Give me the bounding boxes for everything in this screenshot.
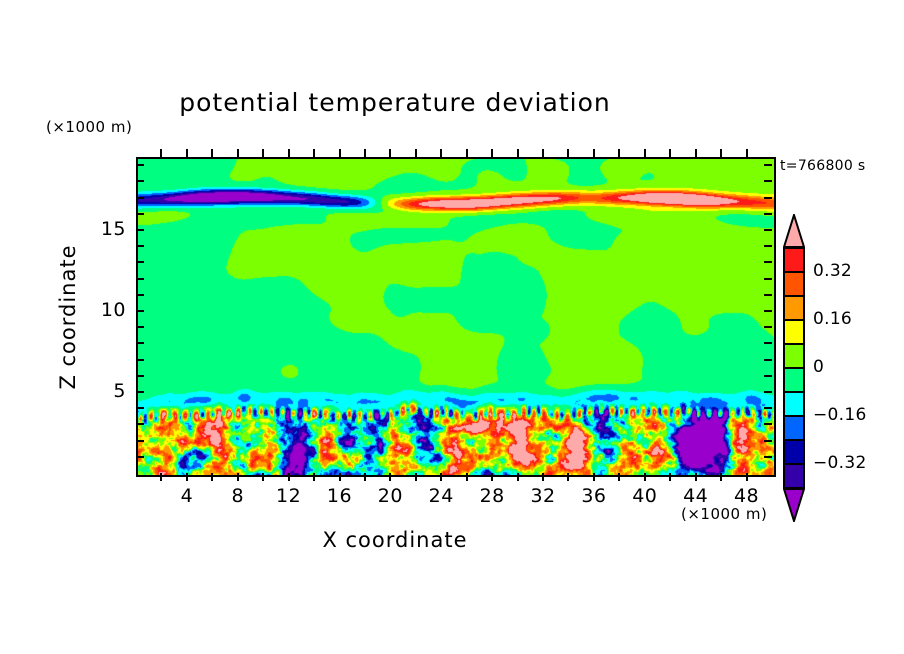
x-tick-top xyxy=(695,149,697,157)
colorbar-tick-label: 0 xyxy=(813,357,824,377)
colorbar: 0.320.160−0.16−0.32 xyxy=(783,248,805,488)
z-tick-left xyxy=(136,342,144,344)
z-tick-left xyxy=(136,310,144,312)
x-tick-top xyxy=(364,149,366,157)
colorbar-band xyxy=(783,416,805,440)
colorbar-band xyxy=(783,368,805,392)
x-tick-bottom xyxy=(160,473,162,481)
z-tick-left xyxy=(136,180,144,182)
colorbar-band xyxy=(783,440,805,464)
z-tick-left xyxy=(136,229,144,231)
x-tick-bottom xyxy=(491,473,493,481)
x-tick-label: 48 xyxy=(717,485,777,507)
colorbar-tick-label: 0.32 xyxy=(813,261,852,281)
x-tick-top xyxy=(313,149,315,157)
x-tick-top xyxy=(542,149,544,157)
z-tick-left xyxy=(136,456,144,458)
z-tick-left xyxy=(136,375,144,377)
x-tick-top xyxy=(669,149,671,157)
x-tick-top xyxy=(593,149,595,157)
colorbar-tick-label: 0.16 xyxy=(813,309,852,329)
z-tick-right xyxy=(764,180,772,182)
z-tick-left xyxy=(136,261,144,263)
z-tick-left xyxy=(136,359,144,361)
z-tick-left xyxy=(136,391,144,393)
x-tick-bottom xyxy=(466,473,468,481)
z-tick-left xyxy=(136,423,144,425)
x-tick-bottom xyxy=(542,473,544,481)
z-tick-left xyxy=(136,245,144,247)
x-tick-top xyxy=(288,149,290,157)
x-tick-bottom xyxy=(364,473,366,481)
page-title: potential temperature deviation xyxy=(0,88,790,117)
timestamp-annotation: t=766800 s xyxy=(780,158,865,174)
z-tick-right xyxy=(764,456,772,458)
z-tick-left xyxy=(136,213,144,215)
colorbar-band xyxy=(783,296,805,320)
x-tick-top xyxy=(211,149,213,157)
colorbar-cap-over xyxy=(783,214,805,248)
z-tick-right xyxy=(764,197,772,199)
z-tick-right xyxy=(764,407,772,409)
contour-field xyxy=(138,159,774,475)
colorbar-tick-label: −0.16 xyxy=(813,405,867,425)
x-tick-bottom xyxy=(288,473,290,481)
z-tick-right xyxy=(764,213,772,215)
x-axis-title: X coordinate xyxy=(0,528,790,552)
z-tick-right xyxy=(764,164,772,166)
x-tick-top xyxy=(618,149,620,157)
colorbar-band xyxy=(783,392,805,416)
x-tick-bottom xyxy=(593,473,595,481)
x-tick-top xyxy=(186,149,188,157)
x-tick-top xyxy=(466,149,468,157)
z-tick-right xyxy=(764,310,772,312)
x-tick-bottom xyxy=(746,473,748,481)
x-tick-bottom xyxy=(517,473,519,481)
x-tick-bottom xyxy=(618,473,620,481)
contour-plot-area xyxy=(136,157,776,477)
z-tick-right xyxy=(764,342,772,344)
colorbar-band xyxy=(783,248,805,272)
z-tick-left xyxy=(136,440,144,442)
z-tick-right xyxy=(764,278,772,280)
x-tick-bottom xyxy=(237,473,239,481)
colorbar-cap-under xyxy=(783,488,805,522)
z-tick-left xyxy=(136,326,144,328)
x-tick-bottom xyxy=(389,473,391,481)
colorbar-tick-label: −0.32 xyxy=(813,453,867,473)
x-tick-bottom xyxy=(211,473,213,481)
x-tick-top xyxy=(339,149,341,157)
figure-root: potential temperature deviation (×1000 m… xyxy=(0,0,904,654)
z-tick-label: 5 xyxy=(66,380,126,402)
z-tick-right xyxy=(764,391,772,393)
z-tick-left xyxy=(136,164,144,166)
x-tick-bottom xyxy=(415,473,417,481)
x-tick-bottom xyxy=(339,473,341,481)
z-tick-right xyxy=(764,375,772,377)
z-tick-label: 15 xyxy=(66,218,126,240)
z-tick-right xyxy=(764,261,772,263)
colorbar-band xyxy=(783,320,805,344)
x-tick-top xyxy=(415,149,417,157)
z-tick-right xyxy=(764,245,772,247)
z-tick-label: 10 xyxy=(66,299,126,321)
x-tick-top xyxy=(237,149,239,157)
colorbar-band xyxy=(783,272,805,296)
z-tick-right xyxy=(764,229,772,231)
x-tick-bottom xyxy=(440,473,442,481)
z-tick-left xyxy=(136,407,144,409)
z-tick-right xyxy=(764,423,772,425)
x-tick-bottom xyxy=(644,473,646,481)
z-tick-right xyxy=(764,294,772,296)
x-tick-top xyxy=(160,149,162,157)
x-tick-bottom xyxy=(567,473,569,481)
x-tick-top xyxy=(720,149,722,157)
z-tick-right xyxy=(764,359,772,361)
x-tick-top xyxy=(491,149,493,157)
x-tick-top xyxy=(389,149,391,157)
x-tick-top xyxy=(517,149,519,157)
z-tick-right xyxy=(764,326,772,328)
z-tick-left xyxy=(136,294,144,296)
z-tick-left xyxy=(136,278,144,280)
x-tick-top xyxy=(262,149,264,157)
x-tick-top xyxy=(440,149,442,157)
colorbar-band xyxy=(783,344,805,368)
x-tick-bottom xyxy=(313,473,315,481)
x-tick-bottom xyxy=(262,473,264,481)
z-axis-units-label: (×1000 m) xyxy=(46,118,132,136)
z-tick-left xyxy=(136,197,144,199)
z-tick-right xyxy=(764,440,772,442)
colorbar-band xyxy=(783,464,805,488)
x-tick-top xyxy=(567,149,569,157)
x-tick-top xyxy=(644,149,646,157)
x-tick-bottom xyxy=(695,473,697,481)
x-axis-units-label: (×1000 m) xyxy=(681,505,767,523)
x-tick-bottom xyxy=(720,473,722,481)
x-tick-bottom xyxy=(669,473,671,481)
x-tick-bottom xyxy=(186,473,188,481)
x-tick-top xyxy=(746,149,748,157)
